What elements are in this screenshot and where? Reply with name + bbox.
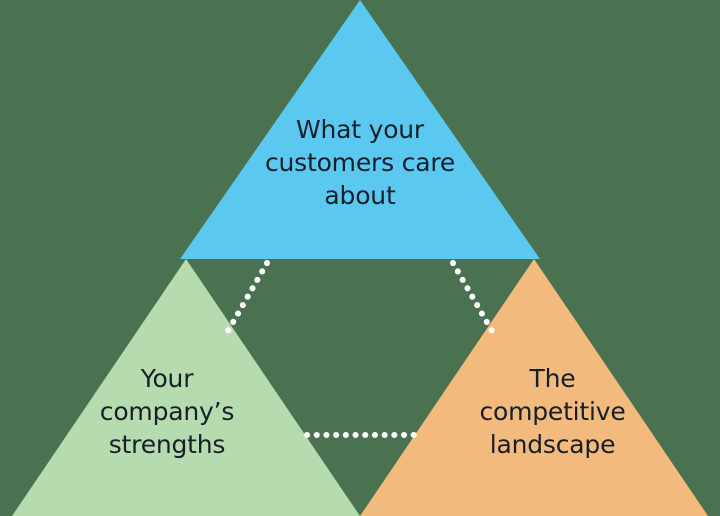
diagram-canvas: What your customers care about Your comp… (0, 0, 720, 516)
triangle-diagram (0, 0, 720, 516)
